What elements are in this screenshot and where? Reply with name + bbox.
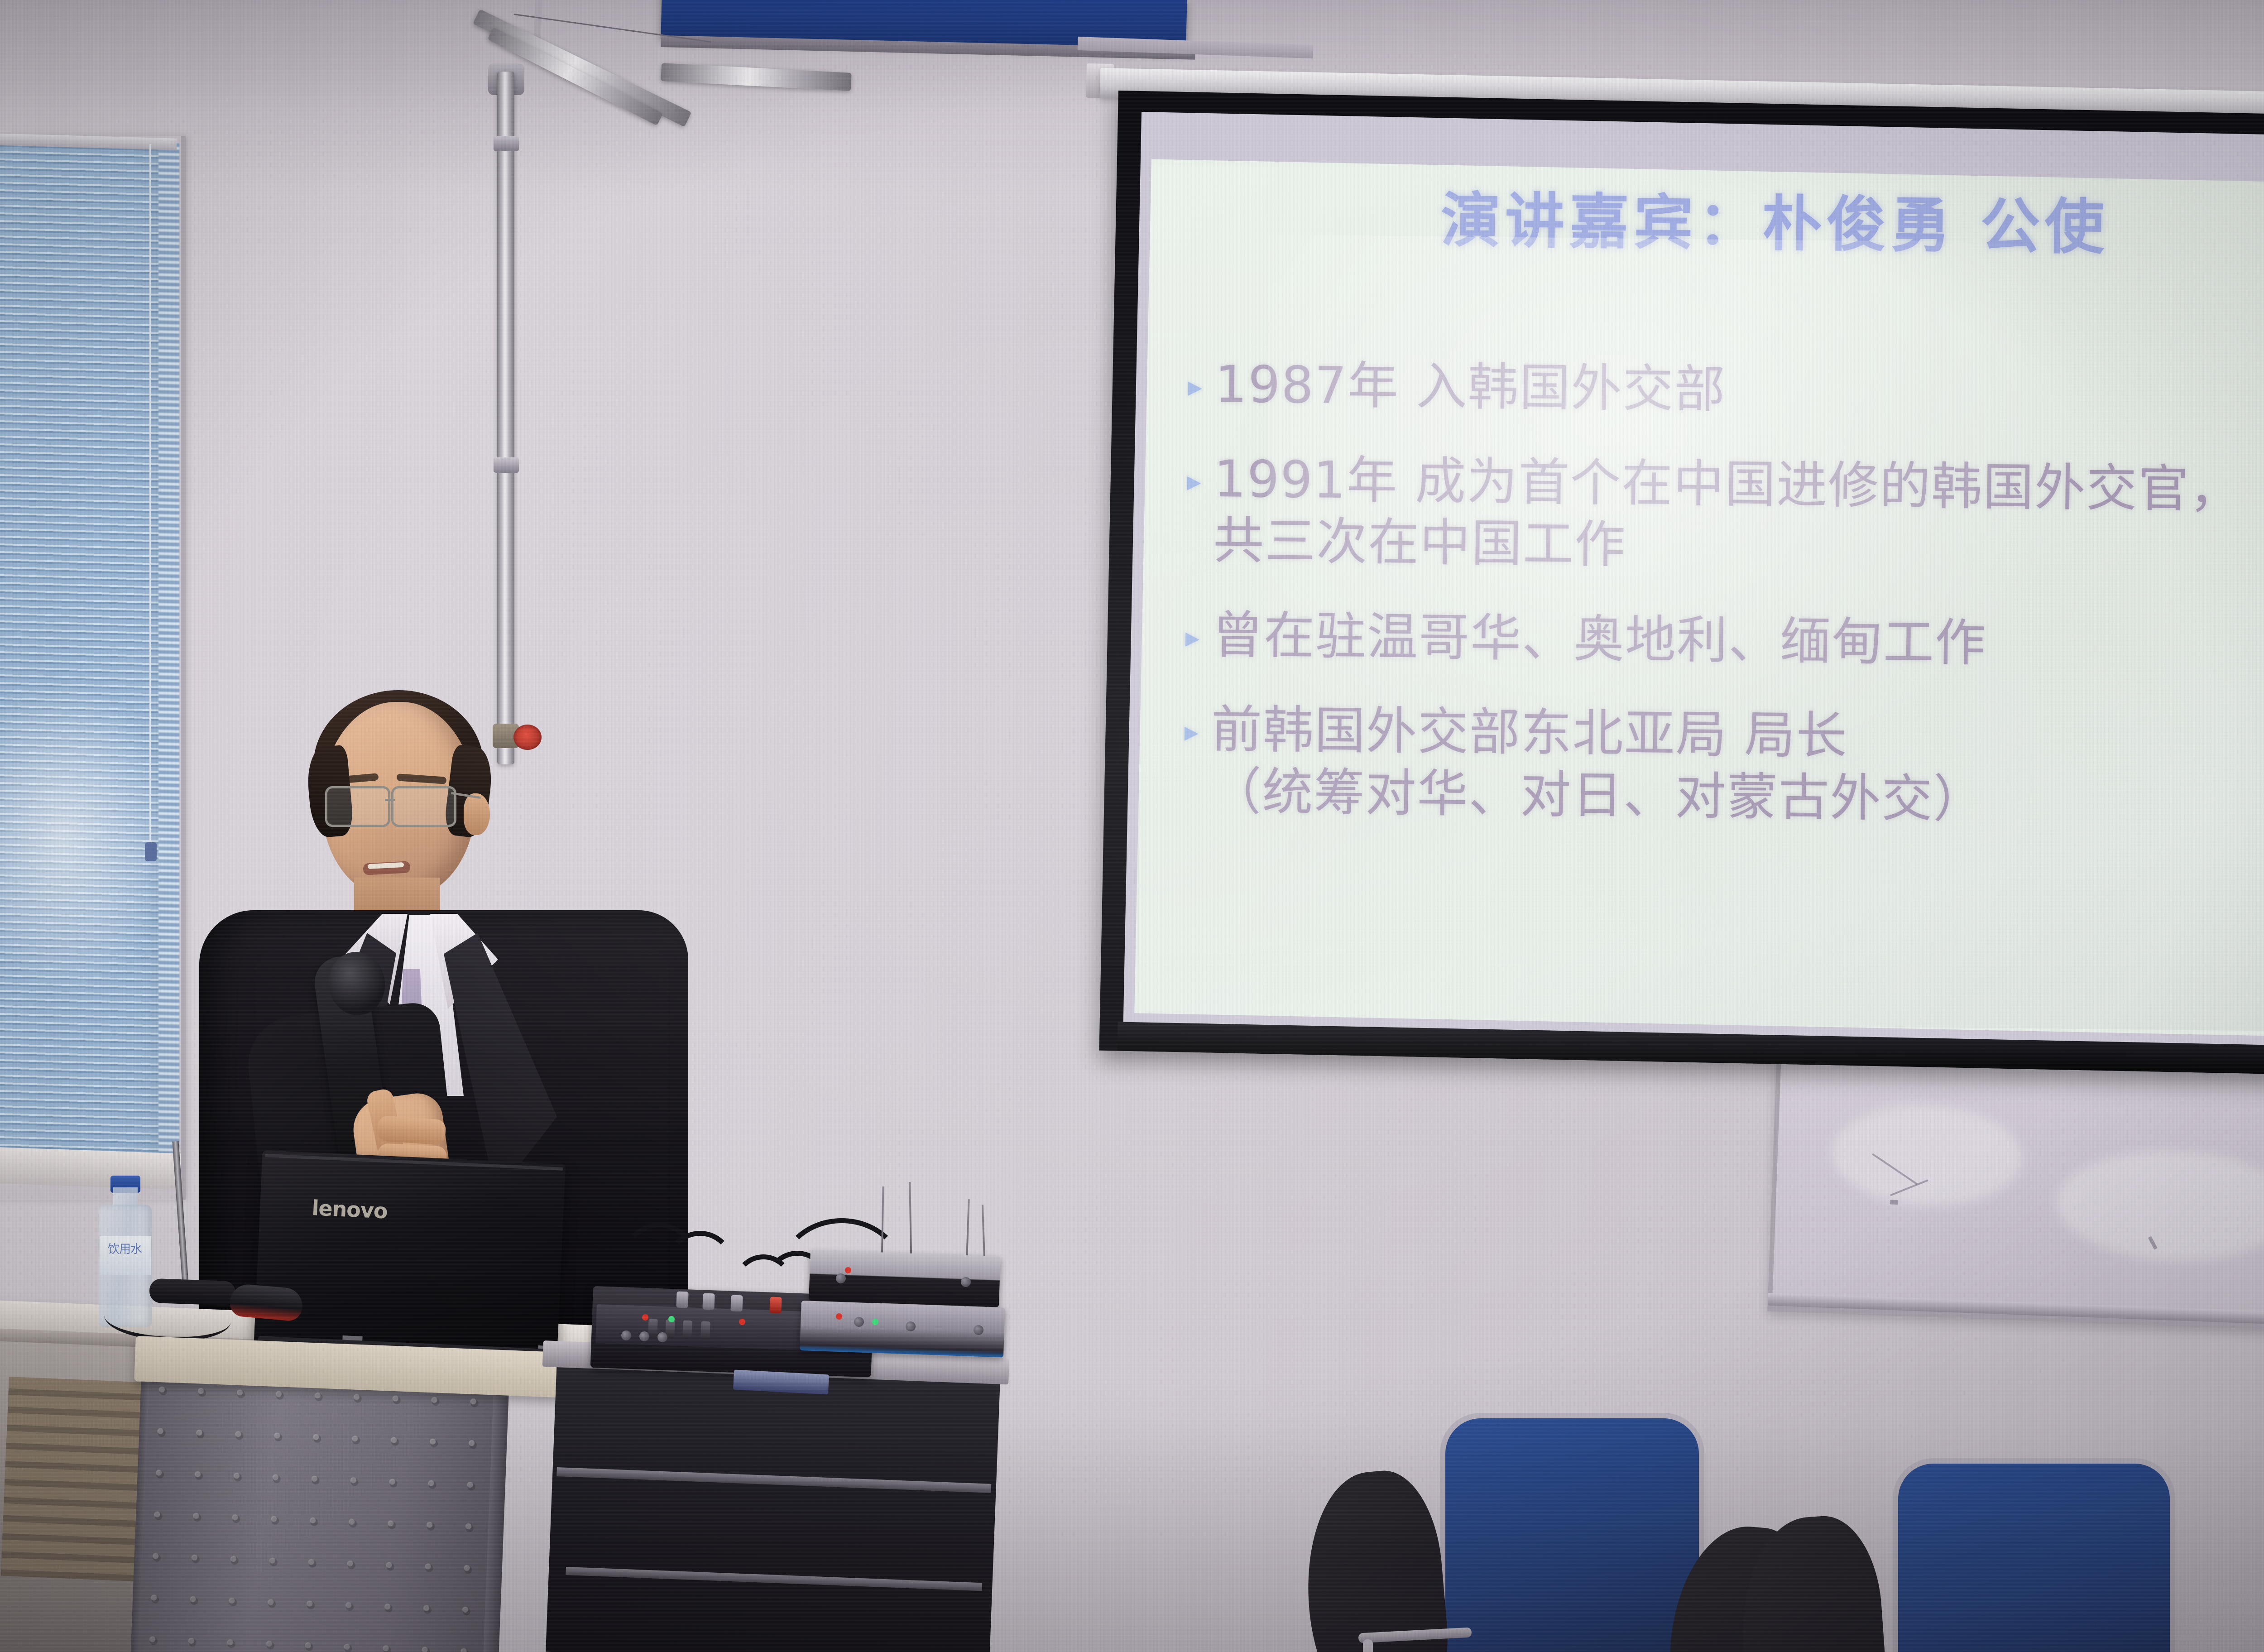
bullet-triangle-icon: ▸: [1185, 623, 1201, 651]
receiver-knob[interactable]: [836, 1273, 846, 1283]
bullet-4-line-2: （统筹对华、对日、对蒙古外交）: [1210, 761, 2264, 835]
slide-bullet-3: ▸ 曾在驻温哥华、奥地利、缅甸工作: [1185, 604, 2264, 678]
slide-title: 演讲嘉宾：朴俊勇 公使: [1245, 185, 2264, 264]
slide-bullet-2: ▸ 1991年 成为首个在中国进修的韩国外交官， 共三次在中国工作: [1186, 448, 2264, 584]
bullet-1-line-1: 1987年 入韩国外交部: [1214, 355, 1726, 419]
bullet-2-text: 1991年 成为首个在中国进修的韩国外交官， 共三次在中国工作: [1213, 448, 2264, 584]
mixer-input-jack[interactable]: [702, 1293, 715, 1310]
receiver2-knob[interactable]: [854, 1317, 864, 1327]
mixer-input-jack[interactable]: [676, 1292, 688, 1308]
mixer-knob[interactable]: [657, 1332, 667, 1342]
projection-screen[interactable]: 演讲嘉宾：朴俊勇 公使 ▸ 1987年 入韩国外交部 ▸ 1991年 成为首个在…: [1099, 91, 2264, 1076]
bullet-triangle-icon: ▸: [1184, 718, 1199, 746]
mixer-led-green: [668, 1316, 675, 1322]
receiver2-knob[interactable]: [906, 1321, 916, 1331]
mixer-knob[interactable]: [639, 1331, 649, 1341]
speaker-ear: [464, 793, 490, 835]
bullet-1-text: 1987年 入韩国外交部: [1214, 354, 2264, 427]
whiteboard-smudge: [2055, 1147, 2264, 1264]
mixer-input-jack[interactable]: [730, 1295, 743, 1312]
receiver2-knob[interactable]: [974, 1325, 983, 1335]
mixer-led-red: [739, 1319, 745, 1325]
whiteboard-mark: [1890, 1200, 1898, 1205]
mixer-fader[interactable]: [682, 1321, 692, 1339]
whiteboard-smudge: [1830, 1103, 2024, 1209]
glasses-lens-right: [391, 786, 456, 827]
speaker-finger: [377, 1115, 446, 1145]
glasses-lens-left: [325, 786, 390, 827]
receiver-knob[interactable]: [961, 1277, 971, 1287]
receiver-power-led: [845, 1267, 851, 1273]
blinds-cord-grip[interactable]: [145, 842, 157, 861]
bullet-4-text: 前韩国外交部东北亚局 局长 （统筹对华、对日、对蒙古外交）: [1210, 699, 2264, 834]
bullet-3-text: 曾在驻温哥华、奥地利、缅甸工作: [1212, 605, 2264, 678]
glasses-bridge: [385, 799, 395, 801]
pipe-coupler-mid: [494, 457, 519, 473]
floor-shadow: [0, 1417, 2264, 1652]
window-blinds[interactable]: [0, 139, 172, 1167]
mixer-fader[interactable]: [648, 1319, 657, 1337]
mixer-red-jack[interactable]: [769, 1297, 782, 1314]
receiver2-power-led: [836, 1313, 842, 1320]
laptop-brand-label: lenovo: [312, 1196, 388, 1224]
slide-bullet-1: ▸ 1987年 入韩国外交部: [1188, 353, 2264, 427]
receiver2-signal-led: [872, 1319, 878, 1325]
bullet-3-line-1: 曾在驻温哥华、奥地利、缅甸工作: [1212, 606, 1986, 673]
water-bottle-label-text: 饮用水: [108, 1244, 149, 1256]
sprinkler-pipe-vertical: [497, 72, 514, 764]
bullet-triangle-icon: ▸: [1187, 467, 1202, 495]
mixer-led-red: [642, 1314, 648, 1321]
blinds-cord[interactable]: [149, 144, 151, 850]
bullet-triangle-icon: ▸: [1188, 372, 1203, 400]
slide-bullet-4: ▸ 前韩国外交部东北亚局 局长 （统筹对华、对日、对蒙古外交）: [1184, 699, 2264, 835]
whiteboard[interactable]: [1767, 1042, 2264, 1337]
projected-slide: 演讲嘉宾：朴俊勇 公使 ▸ 1987年 入韩国外交部 ▸ 1991年 成为首个在…: [1134, 159, 2264, 1037]
bullet-2-line-2: 共三次在中国工作: [1213, 510, 2264, 584]
pipe-coupler-upper: [494, 136, 519, 151]
slide-content: 演讲嘉宾：朴俊勇 公使 ▸ 1987年 入韩国外交部 ▸ 1991年 成为首个在…: [1138, 165, 2264, 1032]
window-blinds-edge: [158, 143, 179, 1162]
bullet-4-line-1: 前韩国外交部东北亚局 局长: [1211, 700, 1848, 766]
bullet-2-line-1: 1991年 成为首个在中国进修的韩国外交官，: [1214, 450, 2241, 519]
mixer-knob[interactable]: [621, 1330, 631, 1340]
mixer-fader[interactable]: [700, 1321, 710, 1340]
window-sill: [0, 1147, 181, 1190]
lecture-hall-photo: e — 5⁻ — 6 演讲嘉宾：朴俊勇 公使 ▸ 1987年 入韩国外交部 ▸: [0, 0, 2264, 1652]
slide-bullet-list: ▸ 1987年 入韩国外交部 ▸ 1991年 成为首个在中国进修的韩国外交官， …: [1183, 353, 2264, 867]
